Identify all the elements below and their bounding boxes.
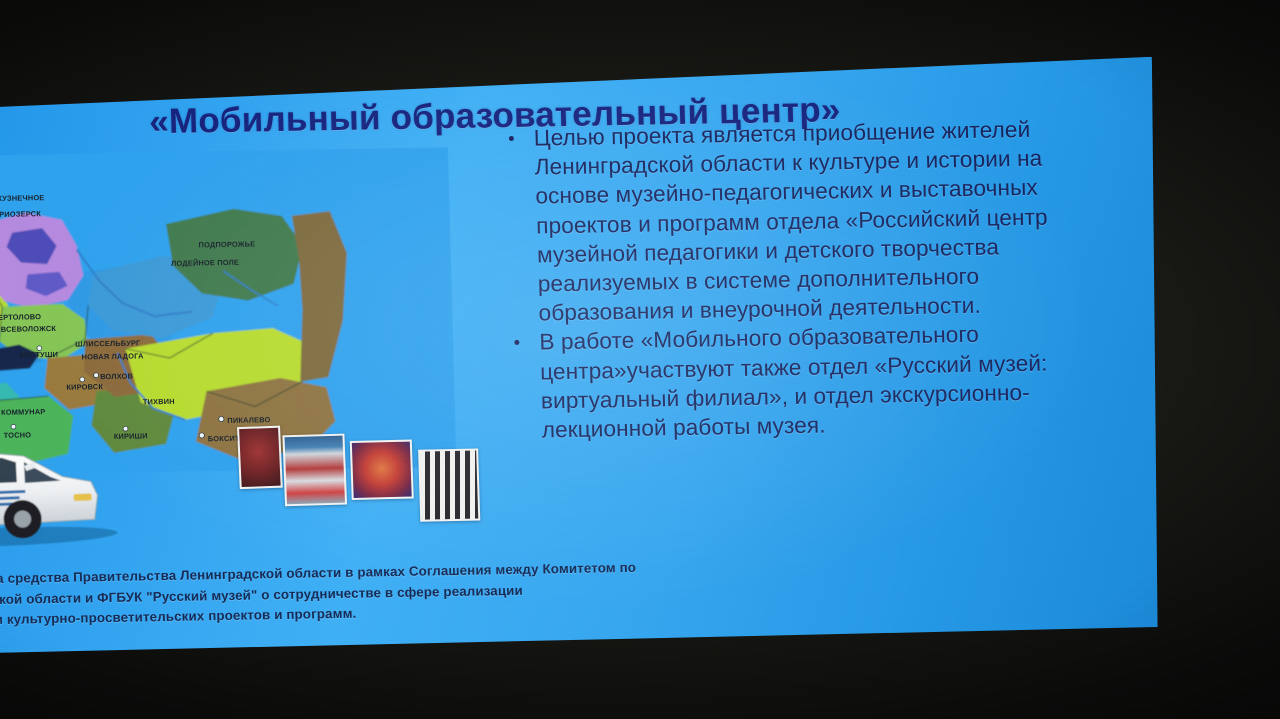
svg-text:СЕРТОЛОВО: СЕРТОЛОВО (0, 312, 41, 322)
mobile-center-van (0, 422, 130, 554)
slide-footer: т осуществляется на средства Правительст… (0, 549, 1155, 633)
photo-thumbnail-2 (282, 434, 347, 507)
svg-text:КИРОВСК: КИРОВСК (66, 382, 103, 392)
svg-text:ТИХВИН: ТИХВИН (143, 397, 175, 407)
svg-text:ШЛИССЕЛЬБУРГ: ШЛИССЕЛЬБУРГ (75, 338, 141, 348)
svg-text:КОЛТУШИ: КОЛТУШИ (19, 350, 58, 360)
svg-text:НОВАЯ ЛАДОГА: НОВАЯ ЛАДОГА (81, 351, 144, 361)
svg-text:ПОДПОРОЖЬЕ: ПОДПОРОЖЬЕ (198, 239, 255, 249)
svg-text:КОММУНАР: КОММУНАР (1, 407, 46, 417)
svg-text:ЛОДЕЙНОЕ ПОЛЕ: ЛОДЕЙНОЕ ПОЛЕ (171, 258, 239, 268)
svg-text:ВОЛХОВ: ВОЛХОВ (100, 372, 133, 382)
photo-thumbnail-3 (350, 440, 414, 500)
slide-body: Целью проекта является приобщение жителе… (493, 114, 1102, 446)
bullet-item-1: Целью проекта является приобщение жителе… (493, 114, 1098, 329)
photo-thumbnail-1 (237, 426, 283, 489)
bullet-marker-icon (514, 340, 519, 345)
bullet-text-1: Целью проекта является приобщение жителе… (533, 114, 1098, 328)
svg-text:ПРИОЗЕРСК: ПРИОЗЕРСК (0, 209, 41, 219)
bullet-text-2: В работе «Мобильного образовательного це… (539, 318, 1102, 445)
photo-thumbnail-strip (237, 420, 492, 532)
slide-surface: СВЕТОГОРСК КУЗНЕЧНОЕ ПРИОЗЕРСК ВЫБОРГ СЕ… (0, 57, 1167, 654)
screenshot-root: СВЕТОГОРСК КУЗНЕЧНОЕ ПРИОЗЕРСК ВЫБОРГ СЕ… (0, 0, 1280, 719)
projected-slide: СВЕТОГОРСК КУЗНЕЧНОЕ ПРИОЗЕРСК ВЫБОРГ СЕ… (0, 57, 1167, 654)
photo-thumbnail-4 (418, 448, 480, 521)
bullet-marker-icon (509, 136, 514, 141)
bullet-item-2: В работе «Мобильного образовательного це… (499, 318, 1102, 445)
svg-text:КУЗНЕЧНОЕ: КУЗНЕЧНОЕ (0, 193, 45, 203)
svg-text:ВСЕВОЛОЖСК: ВСЕВОЛОЖСК (1, 324, 57, 334)
